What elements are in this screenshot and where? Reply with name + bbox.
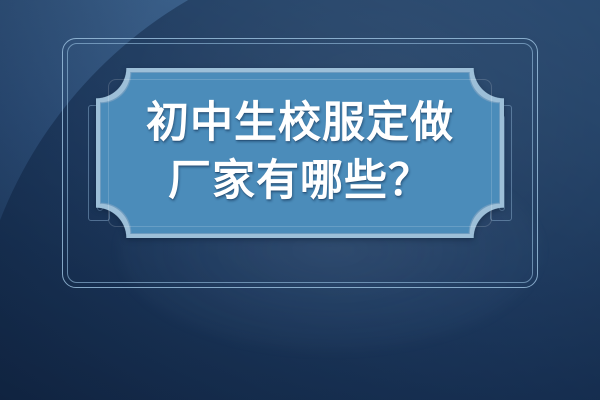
headline-line-2: 厂家有哪些？ — [168, 154, 432, 210]
headline-line-1: 初中生校服定做 — [146, 96, 454, 152]
poster-canvas: 初中生校服定做 厂家有哪些？ — [0, 0, 600, 400]
headline-block: 初中生校服定做 厂家有哪些？ — [96, 68, 504, 238]
